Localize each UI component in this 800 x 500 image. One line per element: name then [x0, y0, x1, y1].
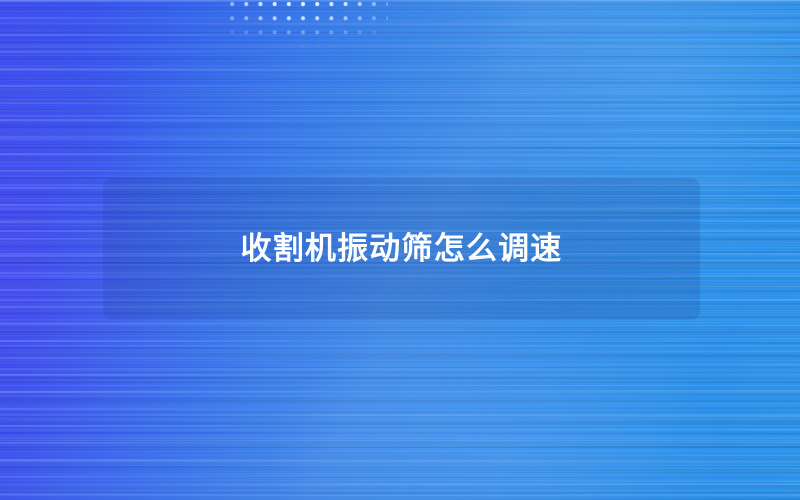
page-title: 收割机振动筛怎么调速 [241, 234, 563, 265]
title-card: 收割机振动筛怎么调速 [103, 178, 700, 320]
banner-image: 收割机振动筛怎么调速 [0, 0, 800, 500]
